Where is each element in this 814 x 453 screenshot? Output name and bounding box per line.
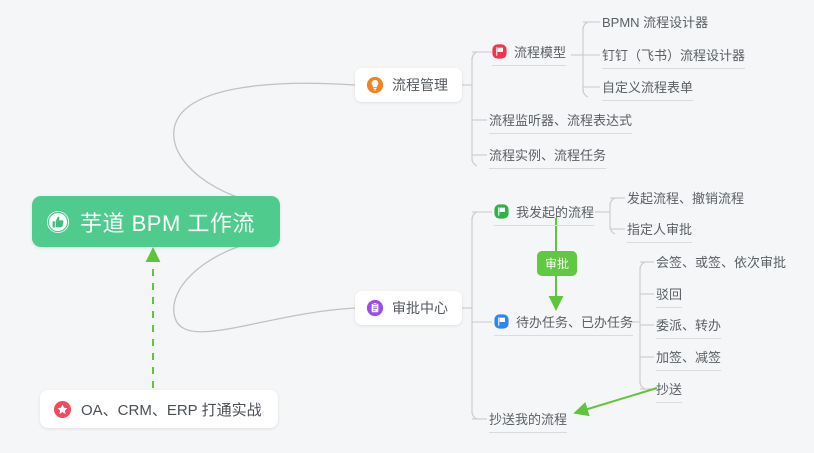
flag-icon — [492, 44, 507, 59]
flag-icon — [494, 204, 509, 219]
leaf-process-instance[interactable]: 流程实例、流程任务 — [489, 145, 606, 169]
root-label: 芋道 BPM 工作流 — [80, 206, 255, 238]
mindmap-canvas: 芋道 BPM 工作流 OA、CRM、ERP 打通实战 流程管理 — [0, 0, 814, 453]
leaf-delegate-transfer[interactable]: 委派、转办 — [656, 315, 721, 339]
clipboard-icon — [366, 299, 384, 317]
node-process-model[interactable]: 流程模型 — [492, 42, 566, 66]
approval-badge: 审批 — [537, 251, 577, 276]
callout-label: OA、CRM、ERP 打通实战 — [81, 399, 262, 420]
leaf-cc-my-process[interactable]: 抄送我的流程 — [489, 409, 567, 433]
star-icon — [53, 400, 72, 419]
leaf-custom-form[interactable]: 自定义流程表单 — [602, 77, 693, 101]
branch-label: 流程管理 — [392, 75, 448, 95]
branch-label: 审批中心 — [392, 298, 448, 318]
leaf-dingtalk-designer[interactable]: 钉钉（飞书）流程设计器 — [602, 45, 745, 69]
branch-node-approval-center[interactable]: 审批中心 — [355, 291, 462, 325]
node-label: 流程模型 — [514, 42, 566, 61]
node-todo-done-tasks[interactable]: 待办任务、已办任务 — [494, 312, 633, 336]
leaf-assignee-approval[interactable]: 指定人审批 — [627, 219, 692, 243]
leaf-start-cancel-process[interactable]: 发起流程、撤销流程 — [627, 188, 744, 211]
node-label: 待办任务、已办任务 — [516, 312, 633, 331]
leaf-add-remove-sign[interactable]: 加签、减签 — [656, 347, 721, 371]
leaf-reject[interactable]: 驳回 — [656, 284, 682, 308]
node-label: 我发起的流程 — [516, 202, 594, 221]
callout-node[interactable]: OA、CRM、ERP 打通实战 — [40, 390, 278, 428]
branch-node-process-management[interactable]: 流程管理 — [355, 68, 462, 102]
leaf-process-listener[interactable]: 流程监听器、流程表达式 — [489, 110, 632, 134]
thumbs-up-icon — [46, 210, 70, 234]
node-my-started-process[interactable]: 我发起的流程 — [494, 202, 594, 226]
lightbulb-icon — [366, 76, 384, 94]
leaf-bpmn-designer[interactable]: BPMN 流程设计器 — [602, 12, 708, 35]
flag-icon — [494, 314, 509, 329]
leaf-cc[interactable]: 抄送 — [656, 379, 682, 403]
root-node[interactable]: 芋道 BPM 工作流 — [32, 196, 280, 247]
leaf-countersign[interactable]: 会签、或签、依次审批 — [656, 252, 786, 275]
